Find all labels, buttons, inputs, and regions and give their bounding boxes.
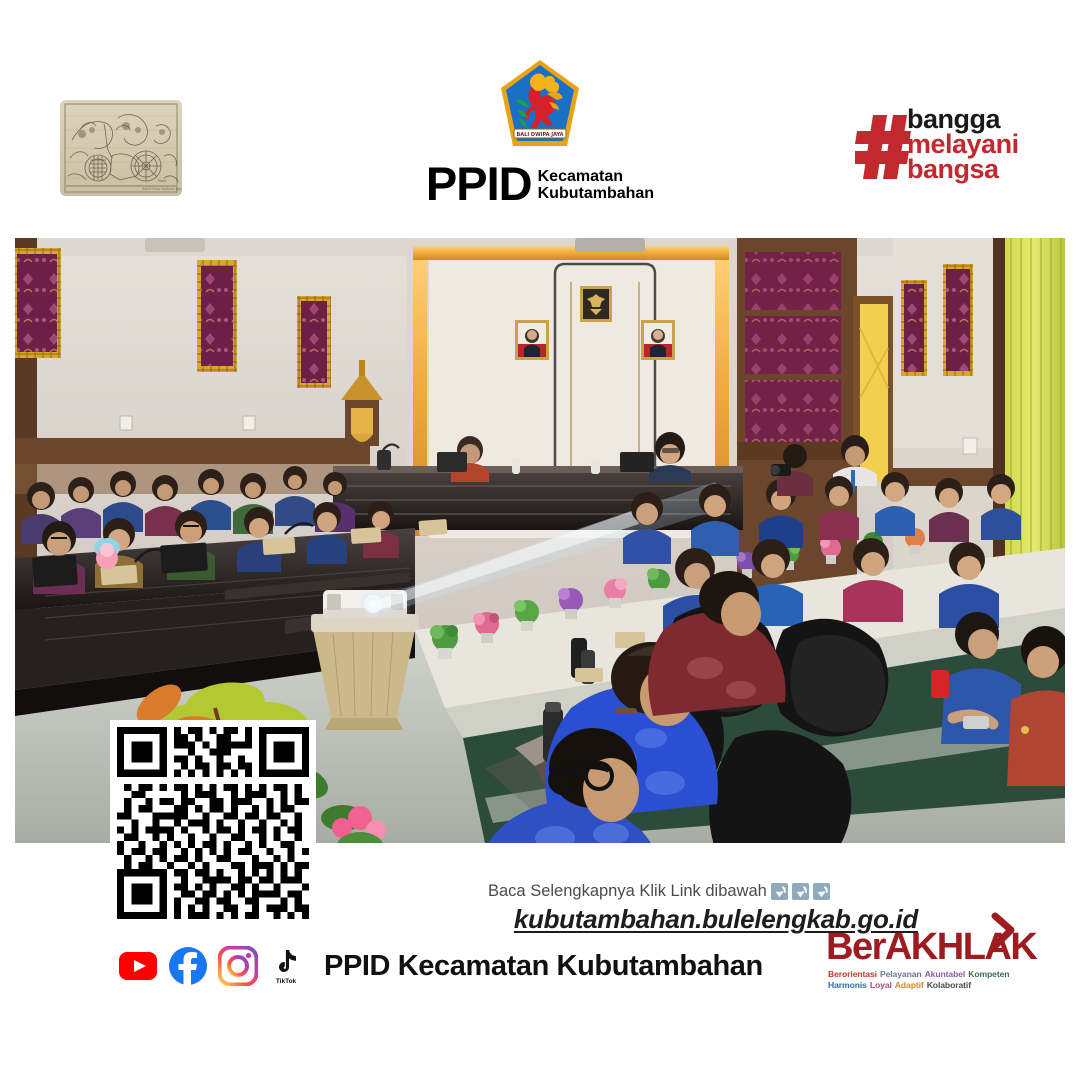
down-arrow-badge-icon bbox=[771, 883, 788, 900]
berakhlak-subtitle-line2: HarmonisLoyalAdaptifKolaboratif bbox=[828, 980, 1012, 991]
down-arrow-badge-icon-3 bbox=[813, 883, 830, 900]
bangga-line-3: bangsa bbox=[907, 157, 1019, 182]
chevron-right-icon bbox=[989, 912, 1019, 952]
berakhlak-word-adaptif: Adaptif bbox=[895, 980, 924, 990]
tiktok-label: TikTok bbox=[276, 978, 297, 985]
ppid-wordmark: PPID bbox=[426, 162, 532, 207]
ppid-subtitle-line2: Kubutambahan bbox=[538, 185, 654, 202]
berakhlak-word-kolaboratif: Kolaboratif bbox=[927, 980, 971, 990]
berakhlak-word-loyal: Loyal bbox=[870, 980, 892, 990]
facebook-icon[interactable] bbox=[168, 946, 208, 986]
berakhlak-word-harmonis: Harmonis bbox=[828, 980, 867, 990]
bangga-melayani-bangsa-logo: bangga melayani bangsa bbox=[855, 107, 1030, 187]
qr-code[interactable] bbox=[110, 720, 316, 926]
social-media-row: TikTok PPID Kecamatan Kubutambahan bbox=[118, 946, 763, 986]
bali-crest-icon: BALI DWIPA JAYA bbox=[497, 58, 583, 154]
berakhlak-subtitle-line1: BerorientasiPelayananAkuntabelKompeten bbox=[828, 969, 1012, 980]
social-handle-label: PPID Kecamatan Kubutambahan bbox=[324, 950, 763, 983]
instagram-icon[interactable] bbox=[218, 946, 258, 986]
berakhlak-word-pelayanan: Pelayanan bbox=[880, 969, 922, 979]
berakhlak-logo: BerAKHLAK BerorientasiPelayananAkuntabel… bbox=[826, 912, 1026, 992]
down-arrow-badge-icon-2 bbox=[792, 883, 809, 900]
read-more-row: Baca Selengkapnya Klik Link dibawah bbox=[470, 882, 920, 901]
tiktok-icon[interactable]: TikTok bbox=[268, 946, 304, 986]
ppid-subtitle: Kecamatan Kubutambahan bbox=[538, 168, 654, 207]
hashtag-icon bbox=[855, 111, 913, 183]
read-more-label: Baca Selengkapnya Klik Link dibawah bbox=[488, 882, 767, 901]
berakhlak-word-kompeten: Kompeten bbox=[968, 969, 1009, 979]
berakhlak-word-akuntabel: Akuntabel bbox=[925, 969, 966, 979]
ppid-subtitle-line1: Kecamatan bbox=[538, 168, 654, 185]
youtube-icon[interactable] bbox=[118, 946, 158, 986]
berakhlak-word-berorientasi: Berorientasi bbox=[828, 969, 877, 979]
berakhlak-subtitle: BerorientasiPelayananAkuntabelKompeten H… bbox=[828, 969, 1012, 991]
svg-text:BALI DWIPA JAYA: BALI DWIPA JAYA bbox=[516, 132, 563, 138]
header-bar: Bali Relief Pura Maduwe Karang bbox=[0, 0, 1080, 238]
